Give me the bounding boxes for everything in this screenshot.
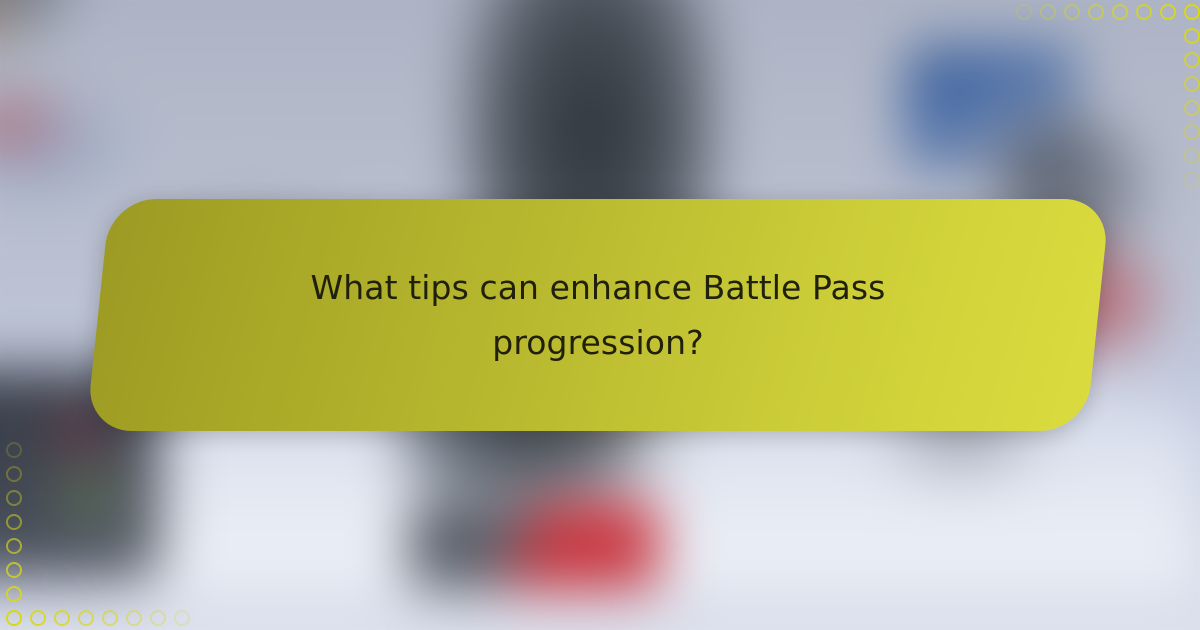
question-card-text: What tips can enhance Battle Pass progre… [98, 199, 1098, 431]
decorative-dot [1184, 124, 1200, 140]
decorative-dot [6, 610, 22, 626]
decorative-dot [1184, 4, 1200, 20]
decorative-dot [1088, 4, 1104, 20]
decorative-dot [1064, 4, 1080, 20]
question-line-1: What tips can enhance Battle Pass [311, 260, 886, 315]
decorative-dot-grid-bottom-left [0, 430, 200, 630]
decorative-dot [78, 610, 94, 626]
decorative-dot [126, 610, 142, 626]
background-blob-vehicle-red [410, 500, 660, 590]
decorative-dot [6, 538, 22, 554]
decorative-dot [1184, 28, 1200, 44]
decorative-dot [6, 514, 22, 530]
decorative-dot [54, 610, 70, 626]
decorative-dot [1184, 52, 1200, 68]
decorative-dot [30, 610, 46, 626]
decorative-dot [102, 610, 118, 626]
screenshot-canvas: What tips can enhance Battle Pass progre… [0, 0, 1200, 630]
decorative-dot [1184, 100, 1200, 116]
decorative-dot [1184, 148, 1200, 164]
decorative-dot [150, 610, 166, 626]
decorative-dot [174, 610, 190, 626]
decorative-dot [6, 466, 22, 482]
decorative-dot [6, 442, 22, 458]
decorative-dot [1136, 4, 1152, 20]
question-line-2: progression? [492, 315, 703, 370]
decorative-dot [1184, 172, 1200, 188]
decorative-dot [1160, 4, 1176, 20]
decorative-dot-grid-top-right [1000, 0, 1200, 200]
decorative-dot [6, 586, 22, 602]
decorative-dot [1112, 4, 1128, 20]
decorative-dot [1040, 4, 1056, 20]
decorative-dot [1184, 76, 1200, 92]
question-card: What tips can enhance Battle Pass progre… [98, 199, 1098, 431]
decorative-dot [1016, 4, 1032, 20]
decorative-dot [6, 490, 22, 506]
decorative-dot [6, 562, 22, 578]
